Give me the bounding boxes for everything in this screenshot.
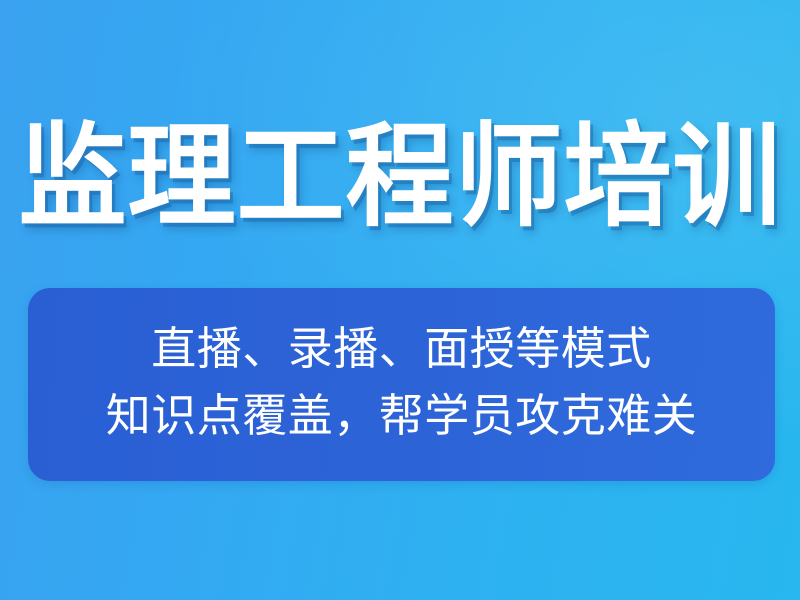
subtitle-line-2: 知识点覆盖，帮学员攻克难关 bbox=[106, 383, 698, 450]
subtitle-line-1: 直播、录播、面授等模式 bbox=[151, 316, 652, 383]
subtitle-panel: 直播、录播、面授等模式 知识点覆盖，帮学员攻克难关 bbox=[28, 288, 775, 481]
banner-headline: 监理工程师培训 bbox=[18, 122, 781, 234]
promo-banner: 监理工程师培训 直播、录播、面授等模式 知识点覆盖，帮学员攻克难关 bbox=[0, 0, 800, 600]
headline-container: 监理工程师培训 bbox=[0, 108, 800, 248]
